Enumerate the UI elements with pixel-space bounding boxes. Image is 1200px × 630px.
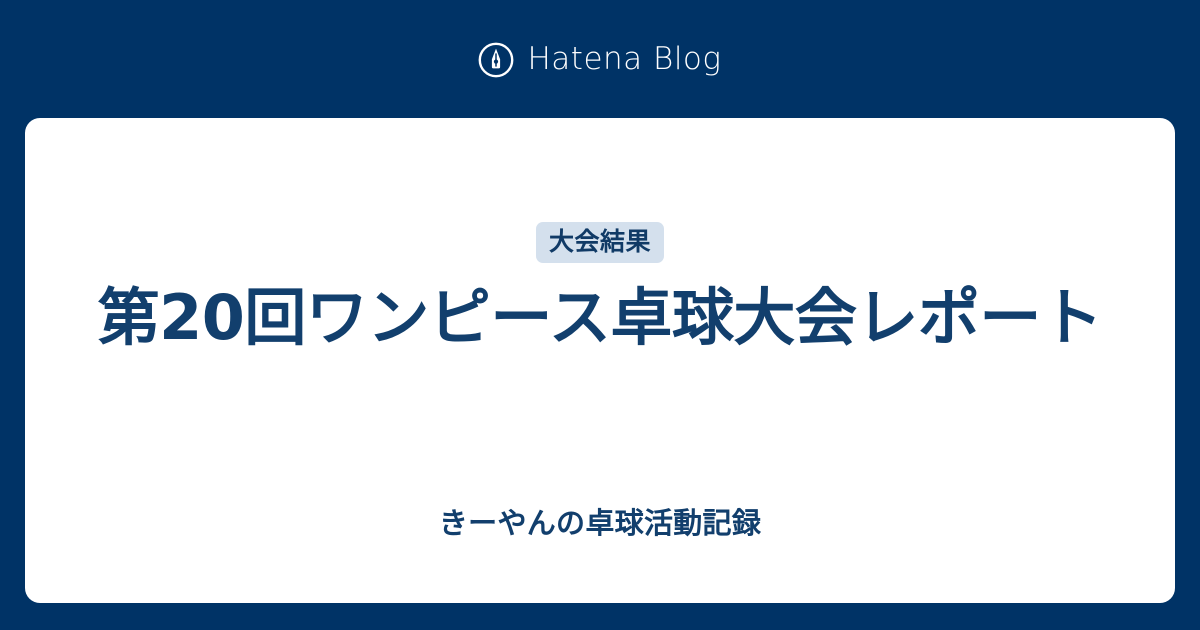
hatena-blog-brand[interactable]: Hatena Blog bbox=[0, 0, 1200, 118]
entry-content: 大会結果 第20回ワンピース卓球大会レポート きーやんの卓球活動記録 bbox=[25, 118, 1175, 603]
category-row: 大会結果 bbox=[25, 222, 1175, 263]
blog-name: きーやんの卓球活動記録 bbox=[85, 506, 1115, 541]
fountain-pen-nib-in-circle-icon bbox=[478, 42, 514, 78]
entry-title: 第20回ワンピース卓球大会レポート bbox=[85, 278, 1115, 357]
og-image-card: Hatena Blog 大会結果 第20回ワンピース卓球大会レポート きーやんの… bbox=[0, 0, 1200, 630]
hatena-blog-wordmark: Hatena Blog bbox=[527, 44, 721, 75]
category-badge[interactable]: 大会結果 bbox=[536, 222, 664, 263]
entry-card: 大会結果 第20回ワンピース卓球大会レポート きーやんの卓球活動記録 bbox=[25, 118, 1175, 603]
